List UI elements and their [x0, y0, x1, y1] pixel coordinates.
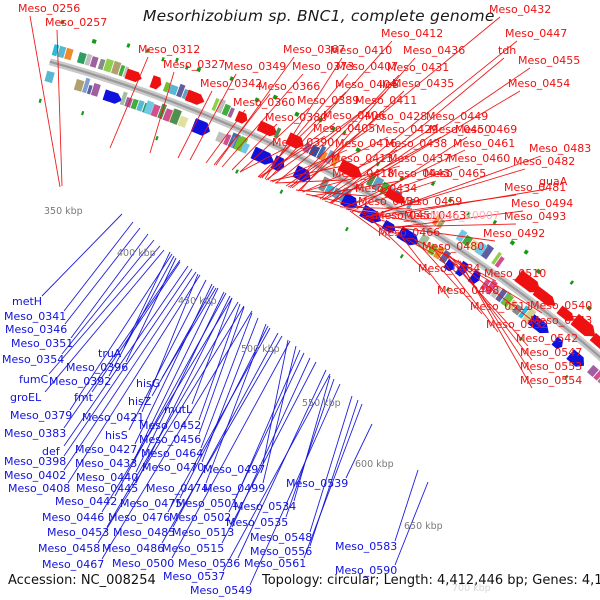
gene-label-meso_0556[interactable]: Meso_0556 — [250, 546, 312, 557]
gene-label-meso_0513[interactable]: Meso_0513 — [172, 527, 234, 538]
gene-label-meso_0534[interactable]: Meso_0534 — [234, 501, 296, 512]
gene-label-meso_0537[interactable]: Meso_0537 — [163, 571, 225, 582]
gene-label-meso_0433[interactable]: Meso_0433 — [75, 458, 137, 469]
tick-label-500-kbp: 500 kbp — [241, 344, 280, 355]
gene-label-meso_0461[interactable]: Meso_0461 — [453, 138, 515, 149]
gene-label-meso_0459[interactable]: Meso_0459 — [400, 196, 462, 207]
gene-label-meso_0351[interactable]: Meso_0351 — [11, 338, 73, 349]
gene-label-meso_0465[interactable]: Meso_0465 — [424, 168, 486, 179]
genome-map-canvas[interactable]: Meso_0256Meso_0257Meso_0312Meso_0327Meso… — [0, 0, 600, 600]
gene-label-meso_0474[interactable]: Meso_0474 — [146, 483, 208, 494]
topology-label: Topology: circular; Length: 4,412,446 bp… — [262, 573, 600, 588]
gene-label-meso_0539[interactable]: Meso_0539 — [286, 478, 348, 489]
gene-label-meso_0312[interactable]: Meso_0312 — [138, 44, 200, 55]
gene-label-meso_0502[interactable]: Meso_0502 — [169, 512, 231, 523]
gene-label-meth[interactable]: metH — [12, 296, 42, 307]
gene-label-meso_0466[interactable]: Meso_0466 — [378, 227, 440, 238]
gene-label-meso_0346[interactable]: Meso_0346 — [5, 324, 67, 335]
gene-label-meso_0454[interactable]: Meso_0454 — [508, 78, 570, 89]
gene-label-meso_0583[interactable]: Meso_0583 — [335, 541, 397, 552]
gene-label-meso_0510[interactable]: Meso_0510 — [484, 268, 546, 279]
gene-label-meso_0458[interactable]: Meso_0458 — [38, 543, 100, 554]
tick-label-350-kbp: 350 kbp — [44, 206, 83, 217]
gene-label-meso_0561[interactable]: Meso_0561 — [244, 558, 306, 569]
gene-label-meso_0421[interactable]: Meso_0421 — [82, 412, 144, 423]
gene-label-meso_0390[interactable]: Meso_0390 — [272, 137, 334, 148]
gene-label-meso_0427[interactable]: Meso_0427 — [75, 444, 137, 455]
gene-label-meso_0542[interactable]: Meso_0542 — [516, 333, 578, 344]
gene-label-meso_0494[interactable]: Meso_0494 — [511, 198, 573, 209]
gene-label-meso_0434[interactable]: Meso_0434 — [355, 183, 417, 194]
gene-label-groel[interactable]: groEL — [10, 392, 41, 403]
gene-label-meso_0483[interactable]: Meso_0483 — [529, 143, 591, 154]
gene-label-meso_0553[interactable]: Meso_0553 — [520, 361, 582, 372]
gene-label-meso_0398[interactable]: Meso_0398 — [4, 456, 66, 467]
gene-label-meso_0484[interactable]: Meso_0484 — [418, 263, 480, 274]
gene-label-meso_0467[interactable]: Meso_0467 — [42, 559, 104, 570]
gene-label-meso_0497[interactable]: Meso_0497 — [203, 464, 265, 475]
gene-label-meso_0447[interactable]: Meso_0447 — [505, 28, 567, 39]
gene-label-meso_0492[interactable]: Meso_0492 — [483, 228, 545, 239]
gene-label-hiss[interactable]: hisS — [105, 430, 128, 441]
gene-label-meso_0408[interactable]: Meso_0408 — [8, 483, 70, 494]
gene-label-meso_0435[interactable]: Meso_0435 — [392, 78, 454, 89]
gene-label-meso_0446[interactable]: Meso_0446 — [42, 512, 104, 523]
gene-label-meso_0536[interactable]: Meso_0536 — [178, 558, 240, 569]
tick-label-650-kbp: 650 kbp — [404, 521, 443, 532]
gene-label-meso_0327[interactable]: Meso_0327 — [163, 59, 225, 70]
rna-label-meso_r0007[interactable]: Meso_R0007 — [430, 210, 500, 221]
gene-label-fumc[interactable]: fumC — [19, 374, 48, 385]
gene-label-meso_0500[interactable]: Meso_0500 — [112, 558, 174, 569]
tick-label-400-kbp: 400 kbp — [117, 248, 156, 259]
tick-label-550-kbp: 550 kbp — [302, 398, 341, 409]
gene-label-meso_0511[interactable]: Meso_0511 — [470, 301, 532, 312]
gene-label-meso_0411[interactable]: Meso_0411 — [355, 95, 417, 106]
gene-label-meso_0413[interactable]: Meso_0413 — [331, 153, 393, 164]
gene-label-fmt[interactable]: fmt — [74, 392, 93, 403]
gene-label-meso_0428[interactable]: Meso_0428 — [365, 111, 427, 122]
gene-label-meso_0354[interactable]: Meso_0354 — [2, 354, 64, 365]
gene-label-meso_0452[interactable]: Meso_0452 — [139, 420, 201, 431]
tick-label-600-kbp: 600 kbp — [355, 459, 394, 470]
gene-label-meso_0456[interactable]: Meso_0456 — [139, 434, 201, 445]
gene-label-meso_0480[interactable]: Meso_0480 — [422, 241, 484, 252]
gene-label-meso_0548[interactable]: Meso_0548 — [250, 532, 312, 543]
gene-label-meso_0469[interactable]: Meso_0469 — [455, 124, 517, 135]
gene-label-meso_0554[interactable]: Meso_0554 — [520, 375, 582, 386]
gene-label-meso_0543[interactable]: Meso_0543 — [530, 315, 592, 326]
gene-label-tdh[interactable]: tdh — [498, 45, 516, 56]
gene-label-meso_0437[interactable]: Meso_0437 — [388, 153, 450, 164]
gene-label-meso_0455[interactable]: Meso_0455 — [518, 55, 580, 66]
gene-label-trua[interactable]: truA — [98, 348, 121, 359]
gene-label-meso_0498[interactable]: Meso_0498 — [437, 285, 499, 296]
gene-label-meso_0360[interactable]: Meso_0360 — [233, 97, 295, 108]
gene-label-meso_0547[interactable]: Meso_0547 — [520, 347, 582, 358]
gene-label-meso_0493[interactable]: Meso_0493 — [504, 211, 566, 222]
gene-label-hisz[interactable]: hisZ — [128, 396, 151, 407]
gene-label-meso_0349[interactable]: Meso_0349 — [224, 61, 286, 72]
gene-label-meso_0256[interactable]: Meso_0256 — [18, 3, 80, 14]
gene-label-meso_0431[interactable]: Meso_0431 — [387, 62, 449, 73]
gene-label-mutl[interactable]: mutL — [164, 404, 192, 415]
gene-label-meso_0535[interactable]: Meso_0535 — [226, 517, 288, 528]
tick-label-450-kbp: 450 kbp — [178, 296, 217, 307]
gene-label-meso_0499[interactable]: Meso_0499 — [203, 483, 265, 494]
gene-label-meso_0449[interactable]: Meso_0449 — [426, 111, 488, 122]
gene-label-meso_0396[interactable]: Meso_0396 — [66, 362, 128, 373]
gene-label-meso_0442[interactable]: Meso_0442 — [55, 496, 117, 507]
gene-label-meso_0342[interactable]: Meso_0342 — [200, 78, 262, 89]
gene-label-meso_0389[interactable]: Meso_0389 — [297, 95, 359, 106]
gene-label-meso_0445[interactable]: Meso_0445 — [76, 483, 138, 494]
gene-label-meso_0475[interactable]: Meso_0475 — [120, 498, 182, 509]
gene-label-meso_0432[interactable]: Meso_0432 — [489, 4, 551, 15]
gene-label-meso_0501[interactable]: Meso_0501 — [176, 498, 238, 509]
accession-label: Accession: NC_008254 — [8, 573, 156, 588]
gene-label-meso_0418[interactable]: Meso_0418 — [332, 168, 394, 179]
gene-label-meso_0257[interactable]: Meso_0257 — [45, 17, 107, 28]
gene-label-meso_0402[interactable]: Meso_0402 — [4, 470, 66, 481]
gene-label-meso_0341[interactable]: Meso_0341 — [4, 311, 66, 322]
gene-label-hisg[interactable]: hisG — [136, 378, 160, 389]
gene-label-meso_0515[interactable]: Meso_0515 — [162, 543, 224, 554]
gene-label-meso_0405[interactable]: Meso_0405 — [313, 123, 375, 134]
gene-label-meso_0549[interactable]: Meso_0549 — [190, 585, 252, 596]
gene-label-meso_0482[interactable]: Meso_0482 — [513, 156, 575, 167]
gene-label-meso_0460[interactable]: Meso_0460 — [448, 153, 510, 164]
gene-label-guaa[interactable]: guaA — [539, 176, 567, 187]
gene-label-meso_0453[interactable]: Meso_0453 — [47, 527, 109, 538]
gene-label-meso_0412[interactable]: Meso_0412 — [381, 28, 443, 39]
gene-label-meso_0383[interactable]: Meso_0383 — [4, 428, 66, 439]
gene-label-meso_0436[interactable]: Meso_0436 — [403, 45, 465, 56]
gene-label-meso_0438[interactable]: Meso_0438 — [385, 138, 447, 149]
gene-label-meso_0366[interactable]: Meso_0366 — [258, 81, 320, 92]
gene-label-meso_0486[interactable]: Meso_0486 — [102, 543, 164, 554]
gene-label-meso_0410[interactable]: Meso_0410 — [330, 45, 392, 56]
page-title: Mesorhizobium sp. BNC1, complete genome — [143, 7, 495, 25]
gene-label-meso_0485[interactable]: Meso_0485 — [113, 527, 175, 538]
gene-label-meso_0379[interactable]: Meso_0379 — [10, 410, 72, 421]
gene-label-meso_0464[interactable]: Meso_0464 — [141, 448, 203, 459]
gene-label-meso_0540[interactable]: Meso_0540 — [530, 300, 592, 311]
gene-label-meso_0470[interactable]: Meso_0470 — [142, 462, 204, 473]
gene-label-meso_0476[interactable]: Meso_0476 — [108, 512, 170, 523]
gene-label-meso_0392[interactable]: Meso_0392 — [49, 376, 111, 387]
